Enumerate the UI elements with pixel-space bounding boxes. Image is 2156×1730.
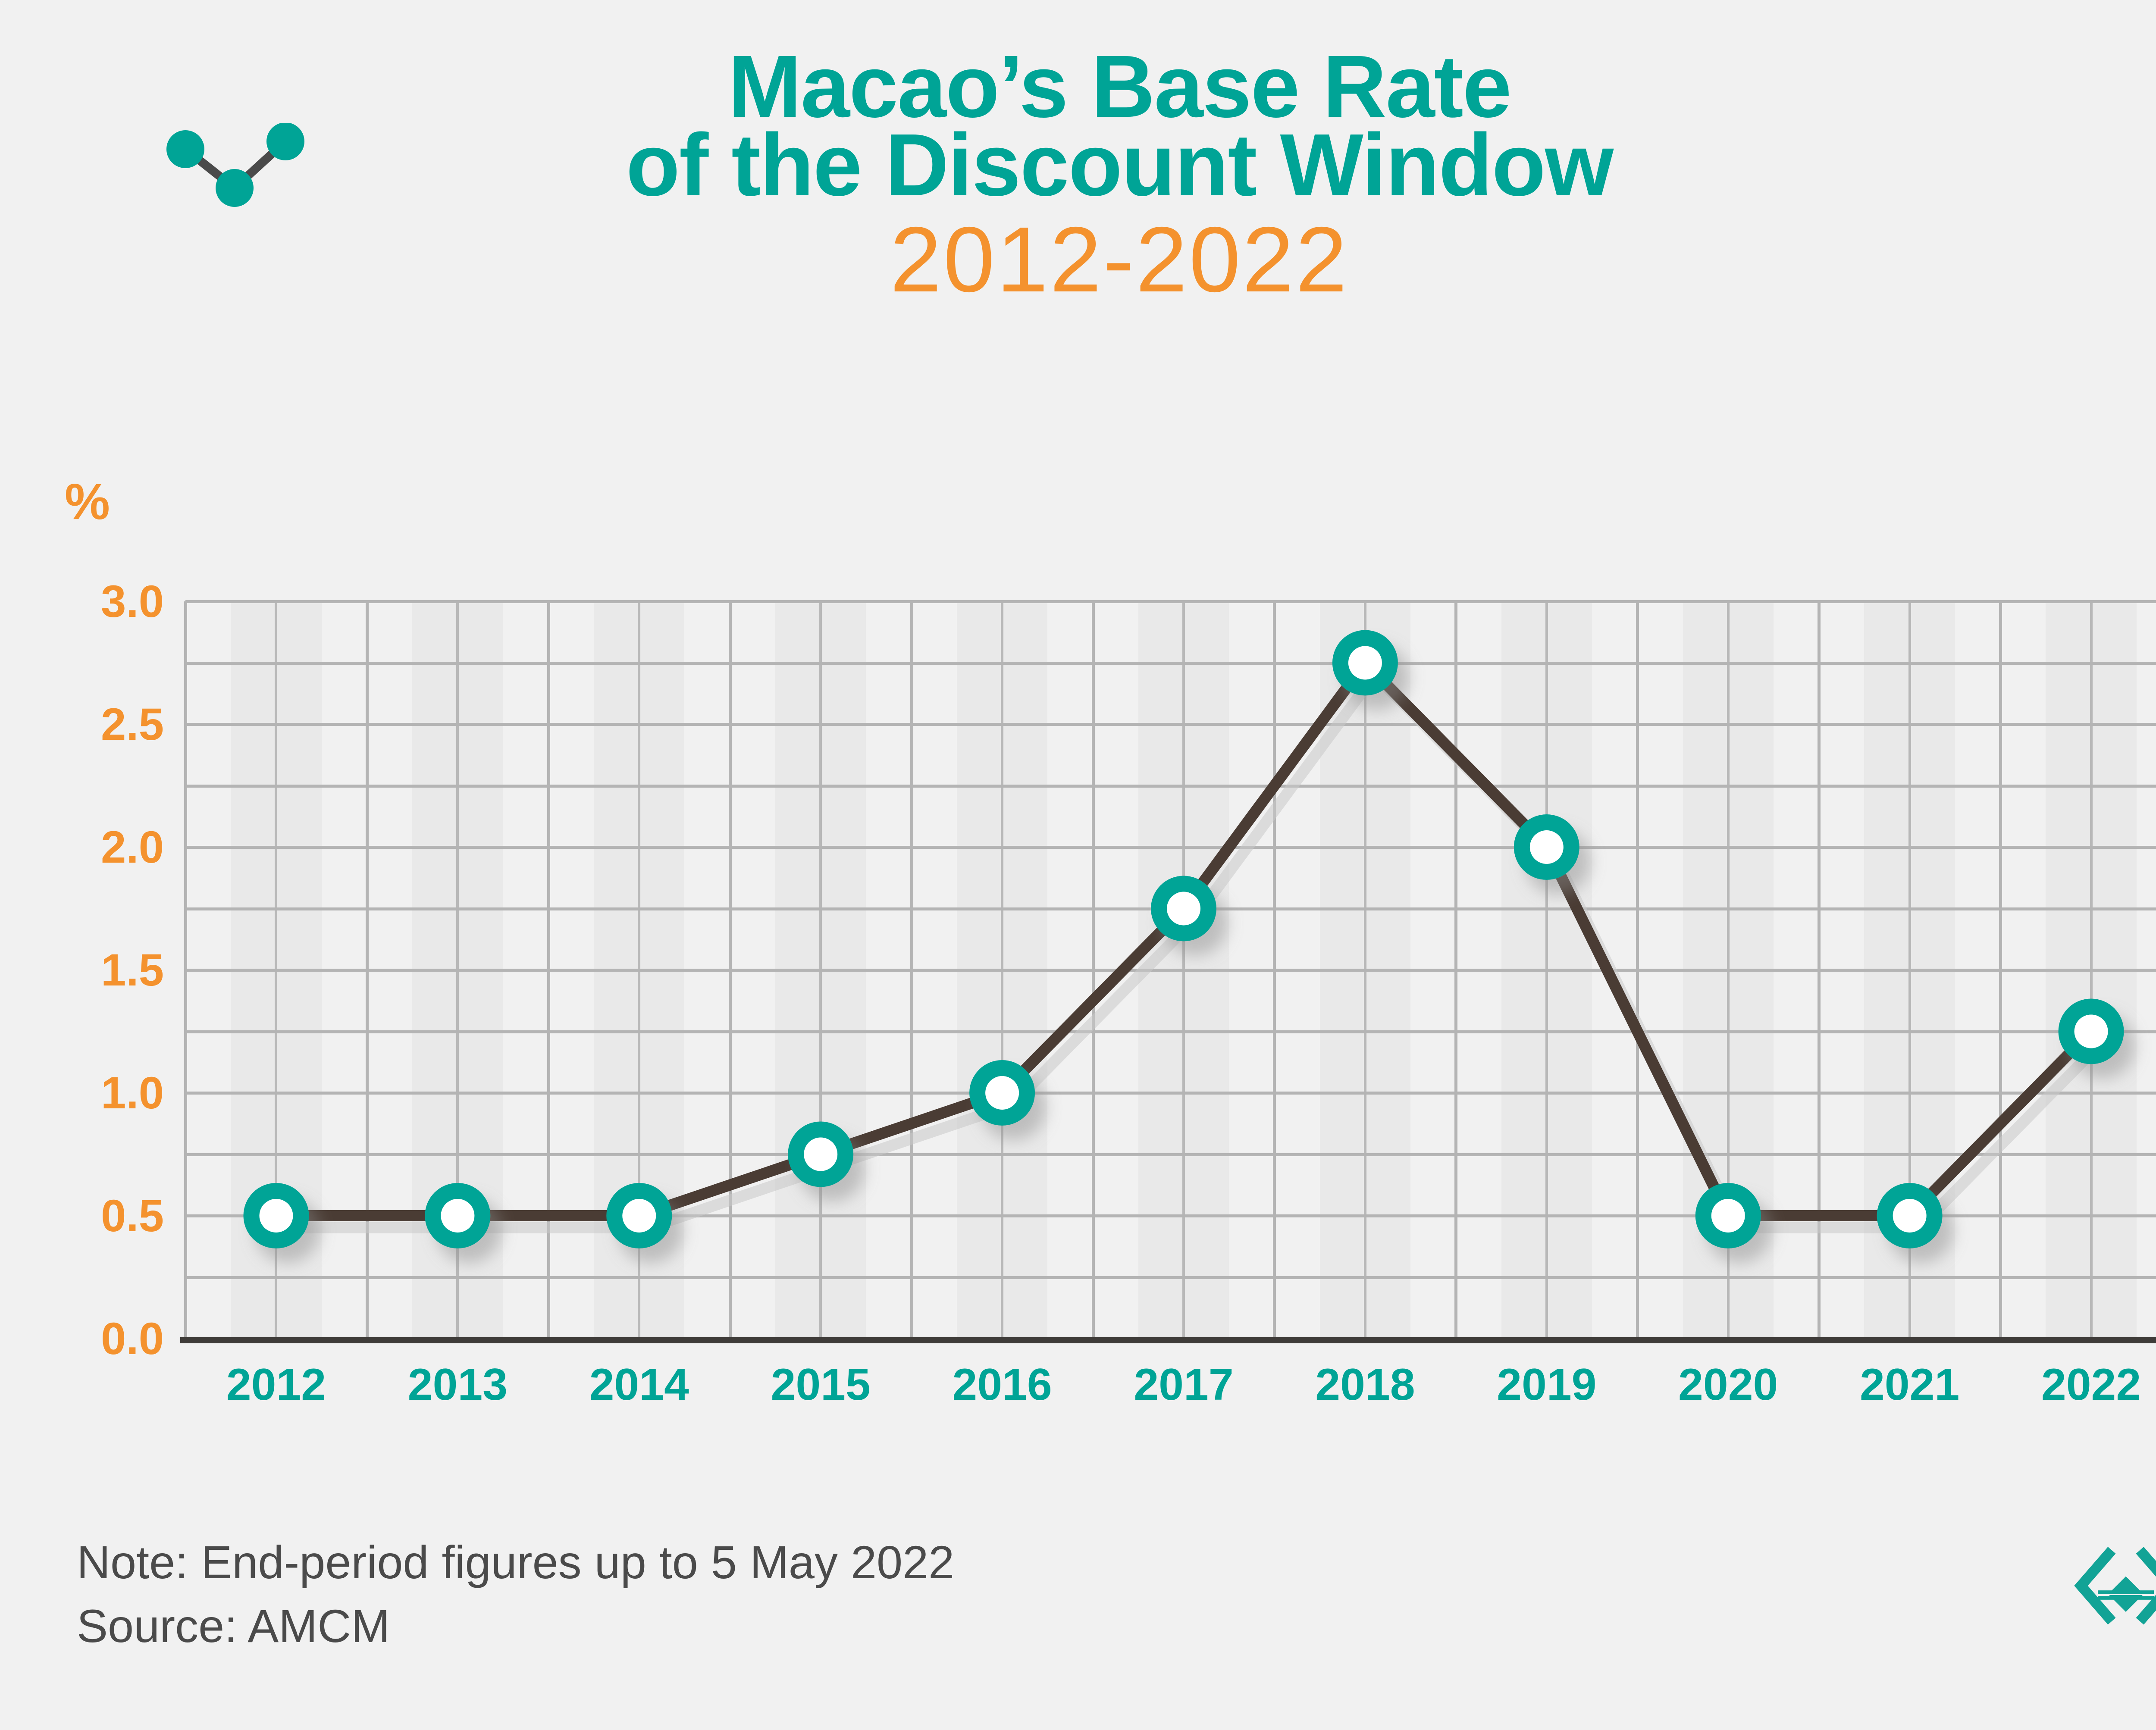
page-title-line-1: Macao’s Base Rate [0, 47, 2156, 126]
header: Macao’s Base Rate of the Discount Window… [0, 0, 2156, 470]
y-axis-tick-label: 2.0 [101, 825, 164, 870]
gridline-horizontal [185, 785, 2156, 788]
title-block: Macao’s Base Rate of the Discount Window… [0, 47, 2156, 303]
y-axis-tick-label: 0.0 [101, 1316, 164, 1361]
x-axis-tick-label: 2020 [1678, 1362, 1778, 1407]
footer: Note: End-period figures up to 5 May 202… [0, 1500, 2156, 1730]
gridline-horizontal [185, 907, 2156, 910]
x-axis-tick-label: 2014 [589, 1362, 689, 1407]
gridline-horizontal [185, 846, 2156, 849]
x-axis-tick-label: 2013 [408, 1362, 508, 1407]
x-axis-tick-label: 2015 [771, 1362, 870, 1407]
plot-area [185, 601, 2156, 1339]
x-axis-tick-label: 2019 [1497, 1362, 1596, 1407]
x-axis-tick-label: 2017 [1134, 1362, 1233, 1407]
page-title-line-2: of the Discount Window [0, 126, 2156, 204]
gridline-horizontal [185, 662, 2156, 665]
x-axis-line [180, 1337, 2156, 1343]
x-axis-tick-label: 2022 [2041, 1362, 2141, 1407]
y-axis-tick-label: 2.5 [101, 702, 164, 747]
gridline-horizontal [185, 1214, 2156, 1217]
page-subtitle: 2012-2022 [0, 216, 2156, 303]
gridline-horizontal [185, 969, 2156, 972]
y-axis-tick-label: 3.0 [101, 579, 164, 624]
note-block: Note: End-period figures up to 5 May 202… [77, 1530, 954, 1658]
x-axis-tick-label: 2021 [1860, 1362, 1959, 1407]
gridline-horizontal [185, 1092, 2156, 1095]
line-chart: % 3.02.52.01.51.00.50.0 2012201320142015… [0, 453, 2156, 1466]
gridline-horizontal [185, 723, 2156, 726]
x-axis-tick-label: 2012 [226, 1362, 326, 1407]
gridline-horizontal [185, 1276, 2156, 1279]
note-text: Note: End-period figures up to 5 May 202… [77, 1530, 954, 1594]
x-axis-tick-label: 2016 [952, 1362, 1052, 1407]
source-text: Source: AMCM [77, 1594, 954, 1658]
y-axis-tick-label: 0.5 [101, 1193, 164, 1239]
x-axis-tick-labels: 2012201320142015201620172018201920202021… [185, 1362, 2156, 1431]
y-axis-tick-label: 1.5 [101, 948, 164, 993]
x-axis-tick-label: 2018 [1315, 1362, 1415, 1407]
gridline-horizontal [185, 1030, 2156, 1033]
gridline-horizontal [185, 600, 2156, 603]
amcm-diamond-emblem-icon [2070, 1539, 2156, 1651]
y-axis-tick-label: 1.0 [101, 1070, 164, 1116]
y-axis-tick-labels: 3.02.52.01.51.00.50.0 [26, 453, 164, 1358]
gridline-horizontal [185, 1153, 2156, 1156]
